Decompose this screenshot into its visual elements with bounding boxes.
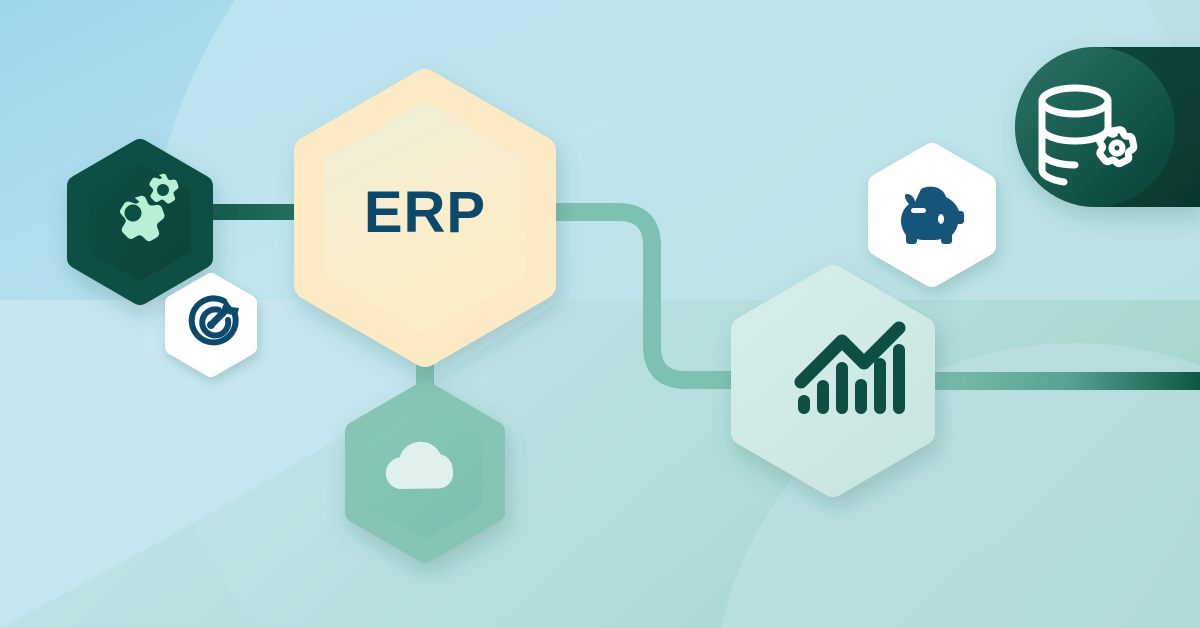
node-target[interactable] xyxy=(173,281,249,369)
node-gears[interactable] xyxy=(78,150,202,294)
node-finance[interactable] xyxy=(879,154,985,276)
erp-label: ERP xyxy=(364,180,486,245)
node-database[interactable] xyxy=(1015,47,1200,207)
connector-analytics-to-right-edge xyxy=(905,372,1200,390)
node-cloud[interactable] xyxy=(356,392,494,552)
diagram-svg: ERP xyxy=(0,0,1200,628)
diagram-canvas: ERP xyxy=(0,0,1200,628)
node-analytics[interactable] xyxy=(744,278,922,484)
node-erp[interactable]: ERP xyxy=(309,84,541,352)
